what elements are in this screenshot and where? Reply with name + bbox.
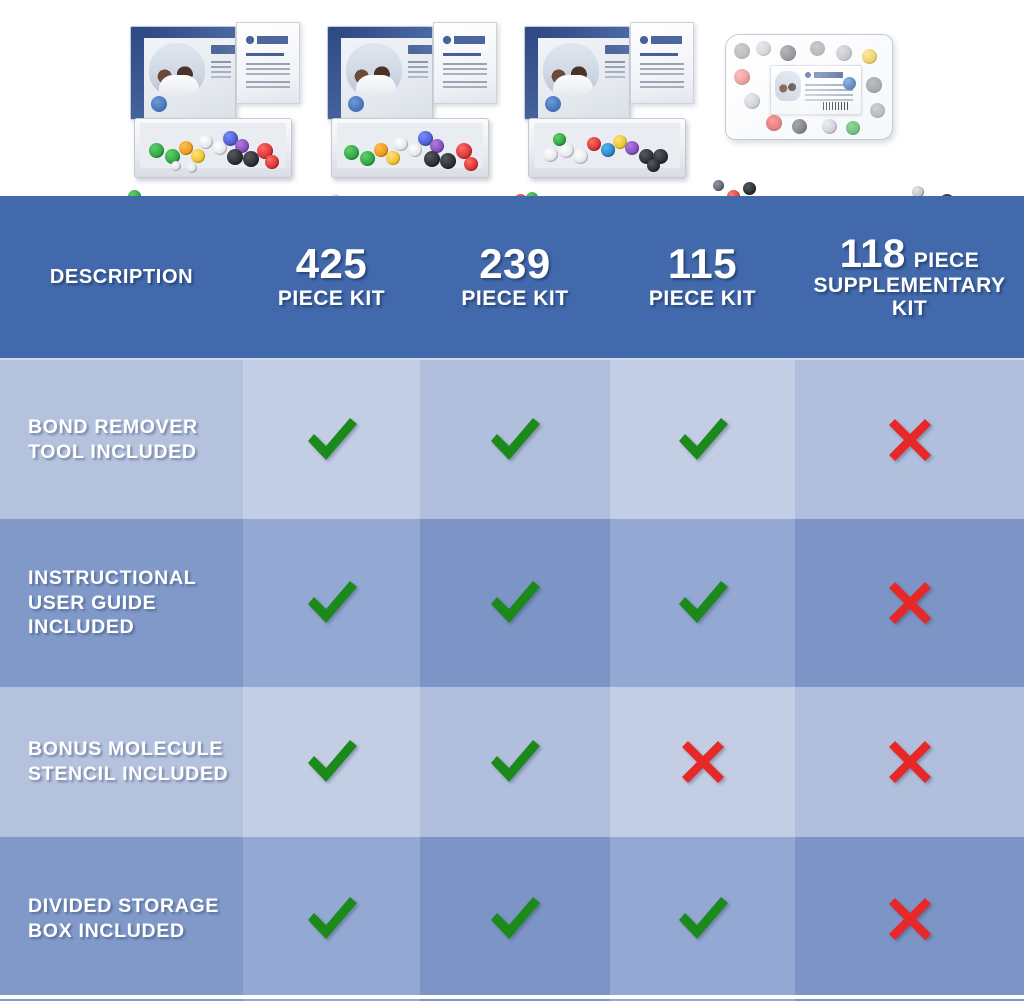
box-spine xyxy=(131,27,144,119)
cell-118-molecule-stencil xyxy=(795,687,1024,837)
cell-239-storage-box xyxy=(420,837,610,1001)
atom-white xyxy=(756,41,771,56)
manual-title-bar xyxy=(640,53,678,56)
atom-green xyxy=(846,121,860,135)
manual-logo-icon xyxy=(640,36,684,44)
kit-piece-word: PIECE xyxy=(914,250,980,272)
column-header-239: 239 PIECE KIT xyxy=(420,243,610,310)
cell-118-user-guide xyxy=(795,519,1024,687)
atom-green xyxy=(344,145,359,160)
atom-white xyxy=(573,149,588,164)
product-image-strip xyxy=(0,0,1024,196)
brand-logo-icon xyxy=(408,45,433,54)
kit-sub-label: PIECE KIT xyxy=(461,288,568,310)
cell-118-storage-box xyxy=(795,837,1024,1001)
cross-icon xyxy=(886,579,934,627)
brand-logo-icon xyxy=(211,45,236,54)
table-row: INSTRUCTIONAL USER GUIDE INCLUDED xyxy=(0,519,1024,687)
storage-tray xyxy=(528,118,686,178)
atom-black xyxy=(227,149,243,165)
table-row: DIVIDED STORAGE BOX INCLUDED xyxy=(0,837,1024,1001)
bottom-edge-strip xyxy=(0,995,1024,999)
atom-red xyxy=(265,155,279,169)
atom-white xyxy=(394,137,408,151)
box-lid xyxy=(524,26,630,120)
atom-red xyxy=(766,115,782,131)
cell-425-user-guide xyxy=(243,519,420,687)
brand-logo-icon xyxy=(805,72,845,78)
cross-icon xyxy=(886,738,934,786)
atom-red xyxy=(587,137,601,151)
column-header-description: DESCRIPTION xyxy=(0,267,243,288)
cell-425-bond-remover xyxy=(243,360,420,519)
atom-white xyxy=(744,93,760,109)
cell-118-bond-remover xyxy=(795,360,1024,519)
box-lid xyxy=(327,26,433,120)
description-label: DESCRIPTION xyxy=(50,267,193,288)
row-label-storage-box: DIVIDED STORAGE BOX INCLUDED xyxy=(0,837,243,1001)
atom-green xyxy=(553,133,566,146)
manual-title-bar xyxy=(443,53,481,56)
label-cover-photo xyxy=(775,71,801,101)
check-icon xyxy=(304,893,360,945)
brand-logo-icon xyxy=(605,45,630,54)
kit-sub-label: PIECE KIT xyxy=(278,288,385,310)
box-top-band xyxy=(144,27,235,38)
atom-white xyxy=(836,45,852,61)
kit-sub-label: PIECE KIT xyxy=(649,288,756,310)
kit-box-illustration xyxy=(118,18,315,196)
check-icon xyxy=(304,577,360,629)
instruction-manual xyxy=(630,22,694,104)
manual-text-lines xyxy=(443,63,487,65)
atom-green xyxy=(360,151,375,166)
kit-piece-count: 118 xyxy=(840,234,906,274)
atom-pieces xyxy=(529,119,685,177)
check-icon xyxy=(487,893,543,945)
product-photo-115[interactable] xyxy=(512,18,709,196)
barcode-icon xyxy=(823,102,849,110)
label-badge-icon xyxy=(843,77,856,90)
box-cover-photo xyxy=(149,43,205,97)
kit-piece-count: 115 xyxy=(668,243,737,285)
instruction-manual xyxy=(236,22,300,104)
atom-black xyxy=(424,151,440,167)
atom-yellow xyxy=(862,49,877,64)
box-spine xyxy=(525,27,538,119)
row-label-bond-remover: BOND REMOVER TOOL INCLUDED xyxy=(0,360,243,519)
check-icon xyxy=(487,736,543,788)
atom-black xyxy=(440,153,456,169)
box-text-lines xyxy=(408,61,428,63)
atom-grey xyxy=(713,180,724,191)
table-body: BOND REMOVER TOOL INCLUDED xyxy=(0,360,1024,1001)
table-header-row: DESCRIPTION 425 PIECE KIT 239 PIECE KIT … xyxy=(0,196,1024,360)
atom-yellow xyxy=(386,151,400,165)
atom-red xyxy=(734,69,750,85)
atom-pieces xyxy=(135,119,291,177)
atom-grey xyxy=(780,45,796,61)
kit-box-illustration xyxy=(315,18,512,196)
atom-white xyxy=(543,147,558,162)
manual-logo-icon xyxy=(443,36,487,44)
manual-title-bar xyxy=(246,53,284,56)
box-cover-photo xyxy=(543,43,599,97)
cross-icon xyxy=(679,738,727,786)
cell-115-bond-remover xyxy=(610,360,795,519)
row-label-user-guide: INSTRUCTIONAL USER GUIDE INCLUDED xyxy=(0,519,243,687)
cross-icon xyxy=(886,895,934,943)
poly-bag xyxy=(725,34,893,140)
atom-black xyxy=(743,182,756,195)
kit-header-line-1: 118 PIECE xyxy=(840,234,980,274)
instruction-manual xyxy=(433,22,497,104)
kit-piece-count: 239 xyxy=(479,243,551,285)
column-header-118-supplementary: 118 PIECE SUPPLEMENTARY KIT xyxy=(795,234,1024,320)
atom-grey xyxy=(870,103,885,118)
product-photo-425[interactable] xyxy=(118,18,315,196)
box-text-lines xyxy=(605,61,625,63)
product-photo-239[interactable] xyxy=(315,18,512,196)
kit-piece-count: 425 xyxy=(296,243,368,285)
table-row: BOND REMOVER TOOL INCLUDED xyxy=(0,360,1024,519)
box-badge-icon xyxy=(545,96,561,112)
atom-red xyxy=(464,157,478,171)
box-badge-icon xyxy=(151,96,167,112)
kit-box-illustration xyxy=(512,18,709,196)
box-spine xyxy=(328,27,341,119)
atom-white xyxy=(199,135,213,149)
atom-white xyxy=(822,119,837,134)
atom-bond-piece xyxy=(171,161,181,171)
column-header-425: 425 PIECE KIT xyxy=(243,243,420,310)
column-header-115: 115 PIECE KIT xyxy=(610,243,795,310)
kit-sub-label: SUPPLEMENTARY KIT xyxy=(799,275,1020,320)
manual-text-lines xyxy=(640,63,684,65)
manual-text-lines xyxy=(246,63,290,65)
storage-tray xyxy=(331,118,489,178)
atom-white xyxy=(408,143,422,157)
box-lid xyxy=(130,26,236,120)
box-top-band xyxy=(341,27,432,38)
atom-purple xyxy=(625,141,639,155)
box-cover-photo xyxy=(346,43,402,97)
manual-logo-icon xyxy=(246,36,290,44)
cell-115-storage-box xyxy=(610,837,795,1001)
storage-tray xyxy=(134,118,292,178)
check-icon xyxy=(675,893,731,945)
box-top-band xyxy=(538,27,629,38)
atom-grey xyxy=(734,43,750,59)
atom-black xyxy=(647,159,660,172)
cell-115-user-guide xyxy=(610,519,795,687)
check-icon xyxy=(675,577,731,629)
product-photo-118-supplementary[interactable] xyxy=(709,18,906,196)
cell-425-storage-box xyxy=(243,837,420,1001)
check-icon xyxy=(487,414,543,466)
cell-239-molecule-stencil xyxy=(420,687,610,837)
check-icon xyxy=(304,736,360,788)
cell-425-molecule-stencil xyxy=(243,687,420,837)
atom-yellow xyxy=(191,149,205,163)
check-icon xyxy=(304,414,360,466)
table-row: BONUS MOLECULE STENCIL INCLUDED xyxy=(0,687,1024,837)
cell-239-bond-remover xyxy=(420,360,610,519)
atom-green xyxy=(149,143,164,158)
cross-icon xyxy=(886,416,934,464)
bag-product-label xyxy=(770,65,862,115)
atom-black xyxy=(792,119,807,134)
atom-grey xyxy=(810,41,825,56)
box-text-lines xyxy=(211,61,231,63)
atom-pieces xyxy=(332,119,488,177)
cell-115-molecule-stencil xyxy=(610,687,795,837)
check-icon xyxy=(487,577,543,629)
comparison-table: DESCRIPTION 425 PIECE KIT 239 PIECE KIT … xyxy=(0,196,1024,999)
atom-bond-piece xyxy=(187,163,197,173)
check-icon xyxy=(675,414,731,466)
cell-239-user-guide xyxy=(420,519,610,687)
box-badge-icon xyxy=(348,96,364,112)
row-label-molecule-stencil: BONUS MOLECULE STENCIL INCLUDED xyxy=(0,687,243,837)
atom-grey xyxy=(866,77,882,93)
